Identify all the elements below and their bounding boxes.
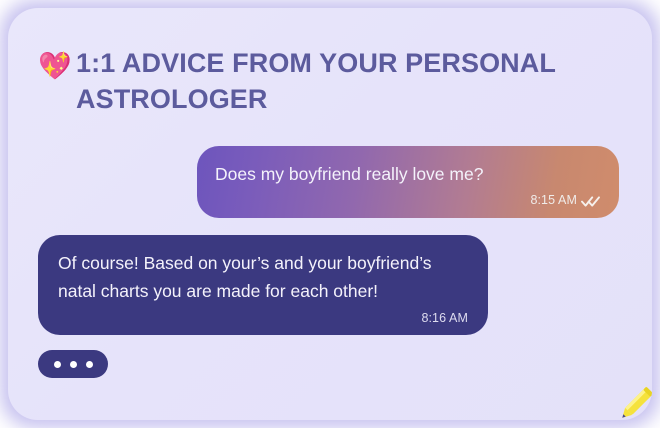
typing-dot xyxy=(70,361,77,368)
message-meta: 8:15 AM xyxy=(215,191,601,209)
typing-indicator xyxy=(38,350,108,378)
message-text: Does my boyfriend really love me? xyxy=(215,160,601,188)
chat-thread: Does my boyfriend really love me? 8:15 A… xyxy=(8,8,652,420)
message-text: Of course! Based on your’s and your boyf… xyxy=(58,249,468,306)
chat-bubble-outgoing[interactable]: Does my boyfriend really love me? 8:15 A… xyxy=(197,146,619,218)
typing-dot xyxy=(86,361,93,368)
astrologer-promo-card: 💖 1:1 ADVICE FROM YOUR PERSONAL ASTROLOG… xyxy=(8,8,652,420)
screenshot-stage: 💖 1:1 ADVICE FROM YOUR PERSONAL ASTROLOG… xyxy=(0,0,660,428)
message-timestamp: 8:15 AM xyxy=(530,193,577,207)
typing-dot xyxy=(54,361,61,368)
chat-bubble-incoming[interactable]: Of course! Based on your’s and your boyf… xyxy=(38,235,488,335)
message-timestamp: 8:16 AM xyxy=(421,311,468,325)
message-meta: 8:16 AM xyxy=(58,309,468,327)
double-check-icon xyxy=(581,195,601,208)
